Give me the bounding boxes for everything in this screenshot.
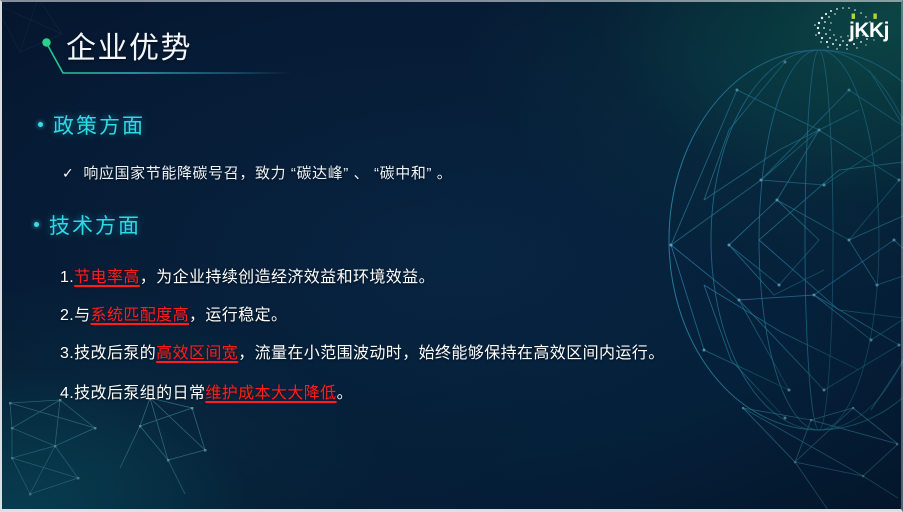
section-heading-tech: 技术方面 — [34, 210, 141, 240]
slide-content: 政策方面 ✓ 响应国家节能降碳号召，致力 “碳达峰” 、 “碳中和” 。 技术方… — [0, 0, 903, 512]
check-icon: ✓ — [62, 165, 74, 182]
tech-item-4: 4.技改后泵组的日常维护成本大大降低。 — [60, 379, 353, 403]
tech-item-2-highlight: 系统匹配度高 — [91, 307, 189, 324]
tech-item-3: 3.技改后泵的高效区间宽，流量在小范围波动时，始终能够保持在高效区间内运行。 — [60, 339, 665, 363]
policy-bullet-text: 响应国家节能降碳号召，致力 “碳达峰” 、 “碳中和” 。 — [83, 162, 452, 183]
policy-bullet-item: ✓ 响应国家节能降碳号召，致力 “碳达峰” 、 “碳中和” 。 — [62, 162, 452, 183]
bullet-dot-icon — [38, 122, 43, 127]
tech-item-2-lead: 与 — [74, 307, 90, 324]
section-heading-policy-label: 政策方面 — [53, 110, 145, 140]
tech-item-1: 1.节电率高，为企业持续创造经济效益和环境效益。 — [60, 263, 435, 287]
slide-canvas: jKKj 企业优势 政策方面 ✓ 响应国家节能降碳号召，致 — [0, 0, 903, 512]
jkkj-logo: jKKj — [807, 3, 893, 51]
tech-item-4-rest: 。 — [337, 385, 353, 402]
tech-item-3-number: 3. — [60, 345, 74, 362]
tech-item-2-number: 2. — [60, 307, 74, 324]
tech-item-4-number: 4. — [60, 385, 74, 402]
tech-item-1-rest: ，为企业持续创造经济效益和环境效益。 — [140, 269, 435, 286]
bullet-dot-icon — [34, 222, 39, 227]
tech-item-3-lead: 技改后泵的 — [74, 345, 156, 362]
tech-item-3-rest: ，流量在小范围波动时，始终能够保持在高效区间内运行。 — [238, 345, 664, 362]
section-heading-policy: 政策方面 — [38, 110, 145, 140]
tech-item-4-lead: 技改后泵组的日常 — [74, 385, 205, 402]
tech-item-2-rest: ，运行稳定。 — [189, 307, 287, 324]
svg-text:jKKj: jKKj — [848, 19, 889, 42]
tech-item-3-highlight: 高效区间宽 — [156, 345, 238, 362]
tech-item-4-highlight: 维护成本大大降低 — [205, 385, 336, 402]
tech-item-2: 2.与系统匹配度高，运行稳定。 — [60, 301, 287, 325]
section-heading-tech-label: 技术方面 — [49, 210, 141, 240]
tech-item-1-highlight: 节电率高 — [74, 269, 140, 286]
tech-item-1-number: 1. — [60, 269, 74, 286]
